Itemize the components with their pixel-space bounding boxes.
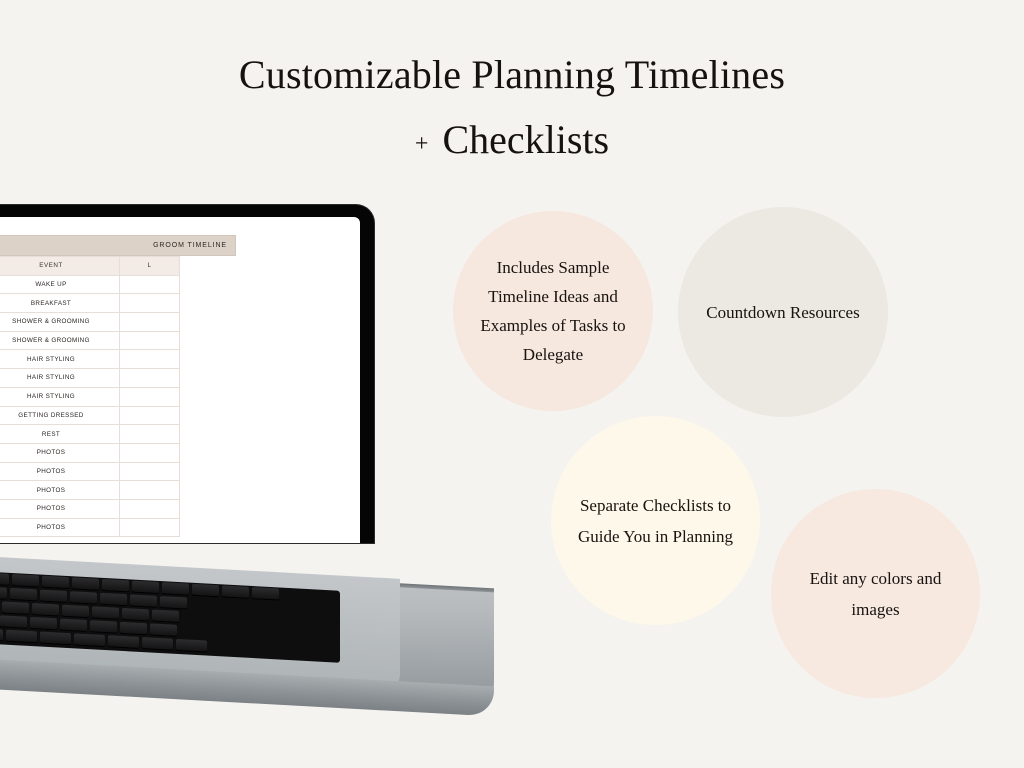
keyboard-key[interactable] bbox=[100, 593, 127, 605]
feature-circle-label: Separate Checklists to Guide You in Plan… bbox=[551, 490, 760, 552]
keyboard-key[interactable] bbox=[70, 591, 97, 603]
table-cell[interactable]: HAIR STYLING bbox=[0, 387, 120, 406]
table-cell[interactable] bbox=[120, 462, 180, 481]
keyboard-key[interactable] bbox=[32, 603, 59, 615]
feature-circle-sample-timelines[interactable]: Includes Sample Timeline Ideas and Examp… bbox=[453, 211, 653, 411]
table-row[interactable]: 9:45 AMPHOTOS bbox=[0, 481, 180, 500]
table-row[interactable]: 8:15 AMHAIR STYLING bbox=[0, 369, 180, 388]
table-cell[interactable] bbox=[120, 387, 180, 406]
table-row[interactable]: 9:30 AMPHOTOS bbox=[0, 462, 180, 481]
feature-circle-label: Edit any colors and images bbox=[771, 563, 980, 625]
table-cell[interactable] bbox=[120, 406, 180, 425]
keyboard-key[interactable] bbox=[222, 585, 249, 597]
page-title-line-1: Customizable Planning Timelines bbox=[0, 48, 1024, 102]
keyboard-key[interactable] bbox=[132, 580, 159, 592]
keyboard-key[interactable] bbox=[6, 630, 37, 643]
page-title-checklists: Checklists bbox=[442, 117, 609, 162]
keyboard-key[interactable] bbox=[0, 572, 9, 584]
table-cell[interactable] bbox=[120, 499, 180, 518]
keyboard-key[interactable] bbox=[150, 623, 177, 635]
keyboard-key[interactable] bbox=[42, 576, 69, 588]
column-header: L bbox=[120, 257, 180, 276]
laptop-screen: L TIMELINE LOCATIONNOTESHOTELHOTELHOTELH… bbox=[0, 217, 360, 543]
table-cell[interactable]: PHOTOS bbox=[0, 518, 120, 537]
table-row[interactable]: 9:15 AMPHOTOS bbox=[0, 443, 180, 462]
keyboard-key[interactable] bbox=[90, 620, 117, 632]
table-row[interactable]: 10:15 AMPHOTOS bbox=[0, 518, 180, 537]
table-cell[interactable]: HAIR STYLING bbox=[0, 350, 120, 369]
feature-circle-edit-colors[interactable]: Edit any colors and images bbox=[771, 489, 980, 698]
table-cell[interactable]: BREAKFAST bbox=[0, 294, 120, 313]
feature-circle-label: Includes Sample Timeline Ideas and Examp… bbox=[453, 253, 653, 369]
keyboard-key[interactable] bbox=[130, 594, 157, 606]
laptop-lid: L TIMELINE LOCATIONNOTESHOTELHOTELHOTELH… bbox=[0, 205, 374, 543]
table-cell[interactable]: SHOWER & GROOMING bbox=[0, 331, 120, 350]
table-cell[interactable]: SHOWER & GROOMING bbox=[0, 313, 120, 332]
spreadsheet-pane-right[interactable]: GROOM TIMELINE TIMEEVENTL7:00 AMWAKE UP7… bbox=[0, 235, 236, 537]
table-cell[interactable] bbox=[120, 313, 180, 332]
keyboard-key[interactable] bbox=[92, 606, 119, 618]
table-cell[interactable] bbox=[120, 518, 180, 537]
table-cell[interactable]: PHOTOS bbox=[0, 462, 120, 481]
table-cell[interactable]: PHOTOS bbox=[0, 443, 120, 462]
table-row[interactable]: 7:00 AMWAKE UP bbox=[0, 275, 180, 294]
table-cell[interactable]: PHOTOS bbox=[0, 481, 120, 500]
keyboard-key[interactable] bbox=[62, 605, 89, 617]
keyboard-key[interactable] bbox=[0, 628, 3, 641]
table-row[interactable]: 7:45 AMSHOWER & GROOMING bbox=[0, 331, 180, 350]
table-cell[interactable] bbox=[120, 369, 180, 388]
table-cell[interactable]: WAKE UP bbox=[0, 275, 120, 294]
laptop-mockup: L TIMELINE LOCATIONNOTESHOTELHOTELHOTELH… bbox=[0, 205, 490, 675]
feature-circle-separate-checklists[interactable]: Separate Checklists to Guide You in Plan… bbox=[551, 416, 760, 625]
keyboard-key[interactable] bbox=[40, 589, 67, 601]
table-row[interactable]: 9:00 AMREST bbox=[0, 425, 180, 444]
table-cell[interactable] bbox=[120, 481, 180, 500]
keyboard-key[interactable] bbox=[108, 635, 139, 648]
feature-circle-label: Countdown Resources bbox=[684, 297, 881, 328]
keyboard-key[interactable] bbox=[162, 582, 189, 594]
table-header-row: TIMEEVENTL bbox=[0, 257, 180, 276]
page-title: Customizable Planning Timelines +Checkli… bbox=[0, 48, 1024, 172]
keyboard-key[interactable] bbox=[30, 617, 57, 629]
table-row[interactable]: 8:45 AMGETTING DRESSED bbox=[0, 406, 180, 425]
table-cell[interactable] bbox=[120, 425, 180, 444]
table-cell[interactable]: GETTING DRESSED bbox=[0, 406, 120, 425]
keyboard-key[interactable] bbox=[0, 615, 27, 627]
keyboard-key[interactable] bbox=[122, 608, 149, 620]
keyboard-key[interactable] bbox=[0, 586, 7, 598]
table-cell[interactable] bbox=[120, 294, 180, 313]
table-cell[interactable]: HAIR STYLING bbox=[0, 369, 120, 388]
keyboard-key[interactable] bbox=[176, 639, 207, 652]
table-cell[interactable]: REST bbox=[0, 425, 120, 444]
keyboard-key[interactable] bbox=[74, 633, 105, 646]
keyboard-key[interactable] bbox=[102, 579, 129, 591]
table-cell[interactable] bbox=[120, 275, 180, 294]
keyboard-key[interactable] bbox=[60, 619, 87, 631]
keyboard-key[interactable] bbox=[120, 622, 147, 634]
sheet-right-table[interactable]: TIMEEVENTL7:00 AMWAKE UP7:15 AMBREAKFAST… bbox=[0, 256, 180, 537]
table-row[interactable]: 7:30 AMSHOWER & GROOMING bbox=[0, 313, 180, 332]
keyboard-key[interactable] bbox=[252, 587, 279, 599]
table-row[interactable]: 7:15 AMBREAKFAST bbox=[0, 294, 180, 313]
keyboard-key[interactable] bbox=[2, 601, 29, 613]
keyboard-key[interactable] bbox=[142, 637, 173, 650]
table-cell[interactable]: PHOTOS bbox=[0, 499, 120, 518]
table-row[interactable]: 8:00 AMHAIR STYLING bbox=[0, 350, 180, 369]
feature-circle-countdown-resources[interactable]: Countdown Resources bbox=[678, 207, 888, 417]
keyboard-key[interactable] bbox=[72, 577, 99, 589]
keyboard-key[interactable] bbox=[192, 584, 219, 596]
table-row[interactable]: 8:30 AMHAIR STYLING bbox=[0, 387, 180, 406]
horizontal-scrollbar[interactable] bbox=[0, 535, 360, 539]
table-cell[interactable] bbox=[120, 443, 180, 462]
keyboard-key[interactable] bbox=[12, 574, 39, 586]
table-row[interactable]: 10:00 AMPHOTOS bbox=[0, 499, 180, 518]
plus-symbol: + bbox=[415, 131, 443, 157]
table-cell[interactable] bbox=[120, 331, 180, 350]
keyboard-key[interactable] bbox=[40, 631, 71, 644]
sheet-right-title: GROOM TIMELINE bbox=[0, 235, 236, 256]
keyboard-key[interactable] bbox=[160, 596, 187, 608]
keyboard-key[interactable] bbox=[152, 610, 179, 622]
table-cell[interactable] bbox=[120, 350, 180, 369]
page-title-line-2: +Checklists bbox=[0, 112, 1024, 172]
keyboard-key[interactable] bbox=[10, 588, 37, 600]
column-header: EVENT bbox=[0, 257, 120, 276]
